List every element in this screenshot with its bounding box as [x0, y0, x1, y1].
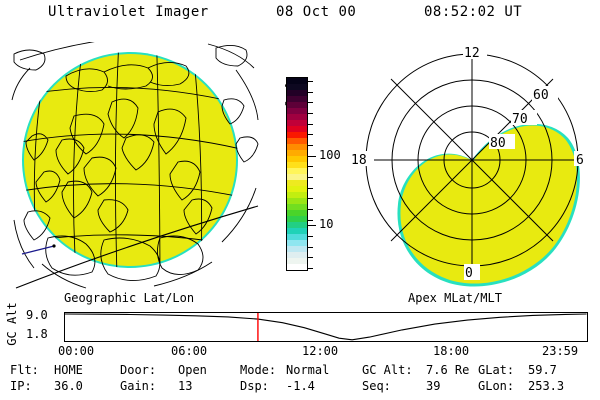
status-label: GC Alt:: [362, 363, 413, 377]
polar-mlt-spokes: [358, 46, 586, 274]
colorbar-gradient: [286, 77, 308, 271]
colorbar-minor-tick: [308, 113, 313, 114]
globe-image: [8, 42, 260, 290]
status-label: Mode:: [240, 363, 276, 377]
mlt-label-6: 6: [576, 153, 584, 168]
header-bar: Ultraviolet Imager 08 Oct 00 08:52:02 UT: [0, 4, 600, 26]
colorbar-minor-tick: [308, 198, 313, 199]
colorbar-minor-tick: [308, 92, 313, 93]
status-value: 39: [426, 379, 440, 393]
colorbar-tick-label: 10: [319, 218, 333, 230]
status-value: HOME: [54, 363, 83, 377]
status-label: Seq:: [362, 379, 391, 393]
subsatellite-vector: [22, 246, 54, 254]
colorbar-minor-tick: [308, 268, 313, 269]
altitude-curve: [65, 313, 587, 341]
altitude-trace: [65, 314, 587, 340]
time-axis-label: 12:00: [302, 344, 338, 358]
status-label: GLat:: [478, 363, 514, 377]
status-value: -1.4: [286, 379, 315, 393]
time-axis: 00:0006:0012:0018:0023:59: [0, 344, 600, 360]
colorbar-major-tick: [308, 156, 316, 157]
observation-date: 08 Oct 00: [276, 4, 356, 20]
colorbar-minor-tick: [308, 145, 313, 146]
status-footer: Flt:HOMEDoor:OpenMode:NormalGC Alt:7.6 R…: [0, 363, 600, 399]
status-value: 7.6 Re: [426, 363, 469, 377]
altitude-timeseries-panel[interactable]: GC Alt 9.0 1.8 00:0006:0012:0018:0023:59: [0, 303, 600, 361]
colorbar-minor-tick: [308, 220, 313, 221]
status-value: Normal: [286, 363, 329, 377]
altitude-ytick-high: 9.0: [26, 308, 48, 322]
colorbar-minor-tick: [308, 257, 313, 258]
status-label: GLon:: [478, 379, 514, 393]
time-axis-label: 23:59: [542, 344, 578, 358]
altitude-plot-area[interactable]: [64, 312, 588, 342]
status-label: Flt:: [10, 363, 39, 377]
status-value: Open: [178, 363, 207, 377]
colorbar-minor-tick: [308, 124, 313, 125]
colorbar-segment: [287, 264, 307, 270]
status-value: 253.3: [528, 379, 564, 393]
latitude-label-70: 70: [512, 112, 528, 127]
mlt-label-18: 18: [351, 153, 367, 168]
polar-plot-image: 12 6 0 18 60 70 80: [350, 42, 595, 290]
status-label: IP:: [10, 379, 32, 393]
colorbar-minor-tick: [308, 166, 313, 167]
status-label: Dsp:: [240, 379, 269, 393]
colorbar-minor-tick: [308, 236, 313, 237]
colorbar-ticks: 10010: [308, 77, 348, 271]
observation-time: 08:52:02 UT: [424, 4, 522, 20]
globe-emission-fill: [24, 54, 236, 266]
colorbar-panel: photon cm-2s-1 10010: [262, 60, 348, 292]
subsatellite-point: [52, 244, 55, 247]
status-value: 36.0: [54, 379, 83, 393]
colorbar-minor-tick: [308, 209, 313, 210]
polar-emission-region: [397, 124, 579, 287]
app-title: Ultraviolet Imager: [48, 4, 209, 20]
latitude-label-80: 80: [490, 136, 506, 151]
colorbar-minor-tick: [308, 81, 313, 82]
colorbar-minor-tick: [308, 177, 313, 178]
altitude-ytick-low: 1.8: [26, 327, 48, 341]
colorbar-major-tick: [308, 225, 316, 226]
status-label: Gain:: [120, 379, 156, 393]
colorbar-minor-tick: [308, 134, 313, 135]
status-label: Door:: [120, 363, 156, 377]
colorbar-tick-label: 100: [319, 149, 341, 161]
geographic-globe-panel[interactable]: [8, 42, 260, 290]
time-axis-label: 18:00: [433, 344, 469, 358]
latitude-label-60: 60: [533, 88, 549, 103]
mlt-label-0: 0: [465, 266, 473, 281]
apex-polar-panel[interactable]: 12 6 0 18 60 70 80: [350, 42, 595, 290]
status-value: 13: [178, 379, 192, 393]
status-value: 59.7: [528, 363, 557, 377]
colorbar-minor-tick: [308, 247, 313, 248]
colorbar-minor-tick: [308, 188, 313, 189]
mlt-label-12: 12: [464, 46, 480, 61]
colorbar-minor-tick: [308, 102, 313, 103]
time-axis-label: 06:00: [171, 344, 207, 358]
time-axis-label: 00:00: [58, 344, 94, 358]
